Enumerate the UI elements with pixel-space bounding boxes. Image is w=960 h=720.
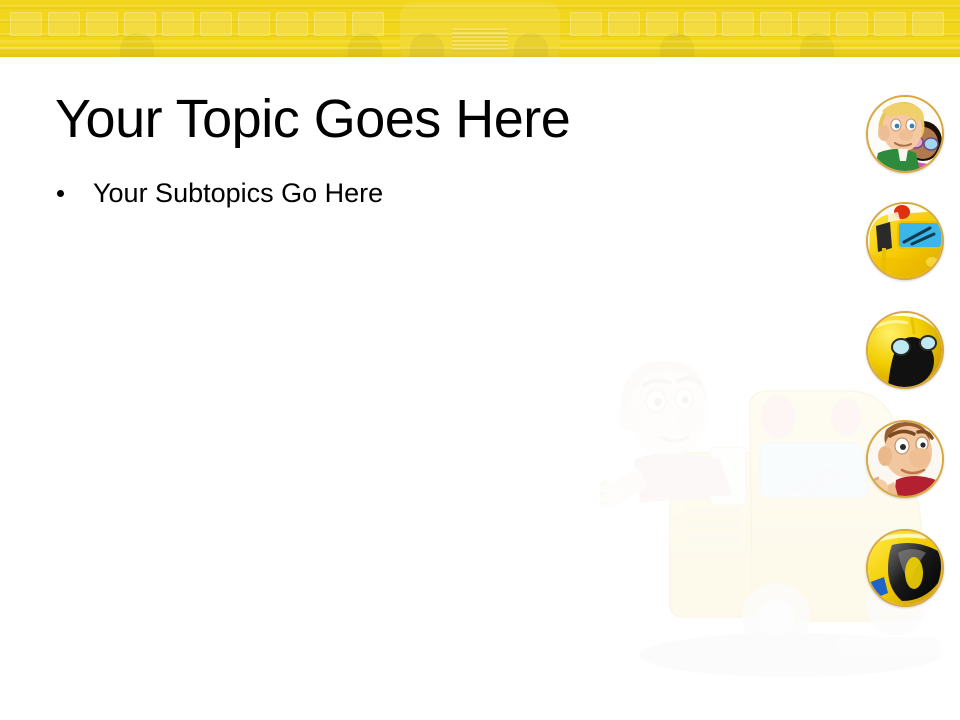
avatar-rail — [866, 95, 946, 635]
avatar-bus-front — [866, 202, 944, 280]
header-bus-window — [314, 12, 346, 36]
header-bus-window — [10, 12, 42, 36]
header-bus-window — [608, 12, 640, 36]
list-item: Your Subtopics Go Here — [50, 175, 790, 212]
header-bus-window — [48, 12, 80, 36]
avatar-boy-waving — [866, 420, 944, 498]
header-bus-window — [874, 12, 906, 36]
header-bus-panel-line — [560, 40, 960, 43]
header-bus-window — [276, 12, 308, 36]
header-bus-window — [912, 12, 944, 36]
header-bottom-edge — [0, 47, 960, 57]
header-band — [0, 0, 960, 57]
avatar-bus-headlight — [866, 311, 944, 389]
bullet-icon — [57, 190, 64, 197]
header-bus-panel-line — [0, 40, 400, 43]
subtopic-list: Your Subtopics Go Here — [50, 175, 790, 212]
presentation-slide: Your Topic Goes Here Your Subtopics Go H… — [0, 0, 960, 720]
header-bus-window — [722, 12, 754, 36]
header-bus-window — [684, 12, 716, 36]
list-item-label: Your Subtopics Go Here — [93, 178, 383, 208]
header-bus-window — [86, 12, 118, 36]
avatar-bus-wheel — [866, 529, 944, 607]
page-title: Your Topic Goes Here — [55, 86, 815, 152]
header-bus-window — [760, 12, 792, 36]
header-bus-window — [238, 12, 270, 36]
avatar-two-kids — [866, 95, 944, 173]
header-bus-window — [162, 12, 194, 36]
header-bus-window — [836, 12, 868, 36]
header-bus-window — [570, 12, 602, 36]
header-bus-window — [200, 12, 232, 36]
